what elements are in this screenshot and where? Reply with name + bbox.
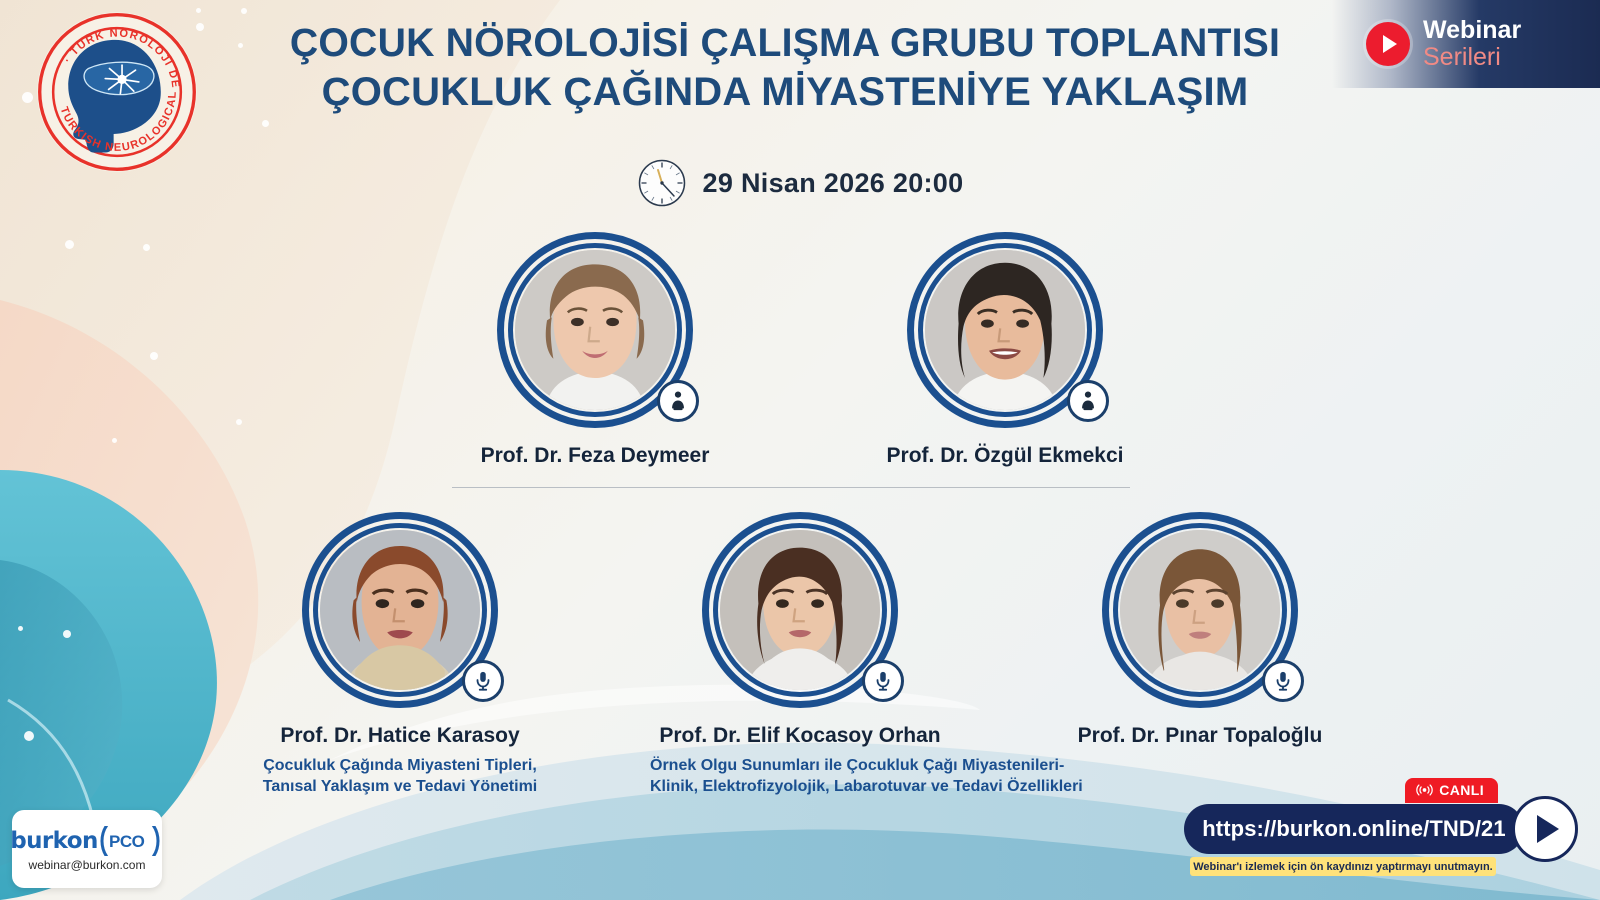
- society-logo-icon: · TÜRK NÖROLOJİ DERNEĞİ · TURKISH NEUROL…: [33, 8, 201, 176]
- poster-title: ÇOCUK NÖROLOJİSİ ÇALIŞMA GRUBU TOPLANTIS…: [215, 22, 1355, 114]
- portrait-illustration: [515, 250, 675, 410]
- decor-dot: [241, 8, 247, 14]
- title-line-1: ÇOCUK NÖROLOJİSİ ÇALIŞMA GRUBU TOPLANTIS…: [226, 22, 1343, 65]
- microphone-icon: [1272, 670, 1294, 692]
- speaker-topic-line2: Tanısal Yaklaşım ve Tedavi Yönetimi: [250, 776, 550, 797]
- speaker-card: Prof. Dr. Elif Kocasoy Orhan Örnek Olgu …: [650, 512, 950, 797]
- role-badge: [657, 380, 699, 422]
- role-badge: [462, 660, 504, 702]
- speakers-row: Prof. Dr. Hatice Karasoy Çocukluk Çağınd…: [0, 512, 1600, 797]
- webinar-badge-line1: Webinar: [1423, 18, 1521, 44]
- role-badge: [1262, 660, 1304, 702]
- event-datetime: 29 Nisan 2026 20:00: [0, 158, 1600, 208]
- role-badge: [862, 660, 904, 702]
- avatar: [907, 232, 1103, 428]
- speaker-topic-line2: Klinik, Elektrofizyolojik, Labarotuvar v…: [650, 776, 950, 797]
- moderator-name: Prof. Dr. Özgül Ekmekci: [855, 444, 1155, 468]
- avatar: [702, 512, 898, 708]
- moderator-card: Prof. Dr. Özgül Ekmekci: [855, 232, 1155, 468]
- burkon-pco-logo: burkon PCO: [10, 826, 163, 856]
- avatar: [1102, 512, 1298, 708]
- presenter-icon: [1077, 390, 1099, 412]
- presenter-icon: [667, 390, 689, 412]
- event-date-text: 29 Nisan 2026 20:00: [703, 168, 964, 199]
- avatar-photo: [320, 530, 480, 690]
- pco-mark-icon: PCO: [96, 826, 164, 856]
- avatar-photo: [1120, 530, 1280, 690]
- speaker-topic-line1: Çocukluk Çağında Miyasteni Tipleri,: [250, 755, 550, 776]
- speaker-name: Prof. Dr. Elif Kocasoy Orhan: [650, 724, 950, 748]
- moderator-name: Prof. Dr. Feza Deymeer: [445, 444, 745, 468]
- avatar-photo: [515, 250, 675, 410]
- moderator-card: Prof. Dr. Feza Deymeer: [445, 232, 745, 468]
- clock-icon: [637, 158, 687, 208]
- play-icon: [1366, 22, 1410, 66]
- avatar: [302, 512, 498, 708]
- section-divider: [452, 487, 1130, 488]
- burkon-wordmark: burkon: [10, 828, 97, 854]
- moderators-row: Prof. Dr. Feza Deymeer: [0, 232, 1600, 468]
- speaker-card: Prof. Dr. Pınar Topaloğlu: [1050, 512, 1350, 797]
- society-logo: · TÜRK NÖROLOJİ DERNEĞİ · TURKISH NEUROL…: [33, 8, 201, 176]
- decor-dot: [22, 92, 33, 103]
- title-line-2: ÇOCUKLUK ÇAĞINDA MİYASTENİYE YAKLAŞIM: [215, 71, 1355, 114]
- live-label: CANLI: [1439, 782, 1484, 798]
- webinar-badge-line2: Serileri: [1423, 45, 1521, 71]
- registration-url[interactable]: https://burkon.online/TND/21: [1184, 804, 1524, 854]
- registration-url-zone: CANLI https://burkon.online/TND/21 Webin…: [1184, 778, 1584, 874]
- broadcast-icon: [1416, 783, 1433, 797]
- webinar-poster: · TÜRK NÖROLOJİ DERNEĞİ · TURKISH NEUROL…: [0, 0, 1600, 900]
- avatar-photo: [925, 250, 1085, 410]
- speaker-name: Prof. Dr. Hatice Karasoy: [250, 724, 550, 748]
- avatar: [497, 232, 693, 428]
- speaker-card: Prof. Dr. Hatice Karasoy Çocukluk Çağınd…: [250, 512, 550, 797]
- organizer-email: webinar@burkon.com: [29, 858, 146, 872]
- speaker-topic-line1: Örnek Olgu Sunumları ile Çocukluk Çağı M…: [650, 755, 950, 776]
- portrait-illustration: [925, 250, 1085, 410]
- svg-text:PCO: PCO: [109, 832, 145, 851]
- avatar-photo: [720, 530, 880, 690]
- webinar-series-badge: Webinar Serileri: [1332, 0, 1600, 88]
- organizer-logo-card: burkon PCO webinar@burkon.com: [12, 810, 162, 888]
- microphone-icon: [472, 670, 494, 692]
- portrait-illustration: [720, 530, 880, 690]
- microphone-icon: [872, 670, 894, 692]
- speaker-name: Prof. Dr. Pınar Topaloğlu: [1050, 724, 1350, 748]
- portrait-illustration: [320, 530, 480, 690]
- decor-dot: [262, 120, 269, 127]
- role-badge: [1067, 380, 1109, 422]
- live-badge: CANLI: [1405, 778, 1498, 803]
- play-button[interactable]: [1512, 796, 1578, 862]
- registration-note: Webinar'ı izlemek için ön kaydınızı yapt…: [1190, 857, 1496, 876]
- portrait-illustration: [1120, 530, 1280, 690]
